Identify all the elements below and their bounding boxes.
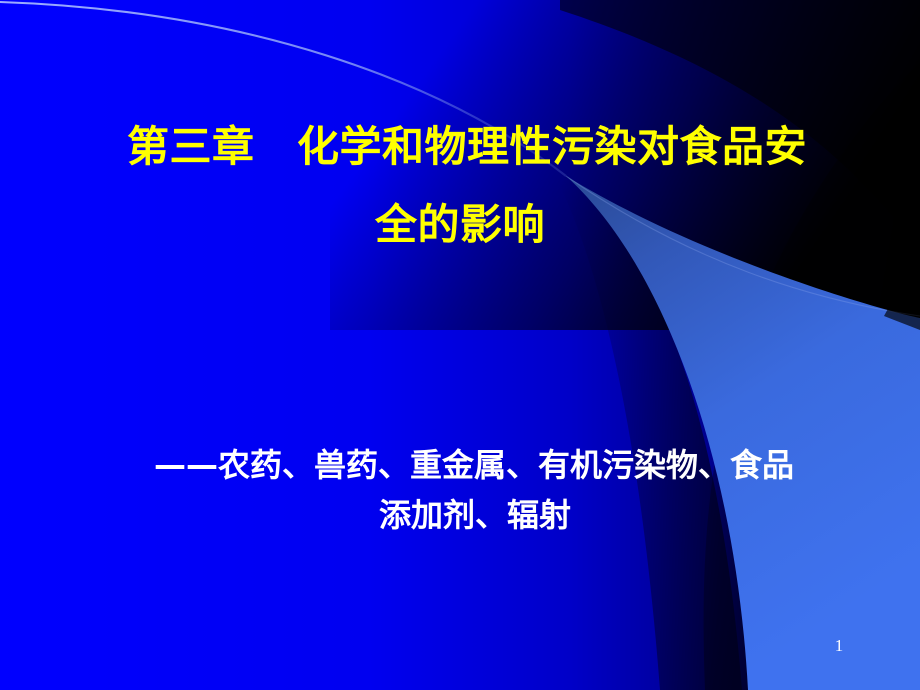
slide-title: 第三章 化学和物理性污染对食品安 全的影响 [0,108,920,264]
slide-subtitle: ——农药、兽药、重金属、有机污染物、食品 添加剂、辐射 [60,440,890,540]
subtitle-line-2: 添加剂、辐射 [60,490,890,540]
page-number: 1 [826,636,852,656]
presentation-slide: 第三章 化学和物理性污染对食品安 全的影响 ——农药、兽药、重金属、有机污染物、… [0,0,920,690]
title-line-1: 第三章 化学和物理性污染对食品安 [0,108,920,186]
title-line-2: 全的影响 [0,186,920,264]
subtitle-line-1: ——农药、兽药、重金属、有机污染物、食品 [60,440,890,490]
slide-content: 第三章 化学和物理性污染对食品安 全的影响 ——农药、兽药、重金属、有机污染物、… [0,0,920,690]
